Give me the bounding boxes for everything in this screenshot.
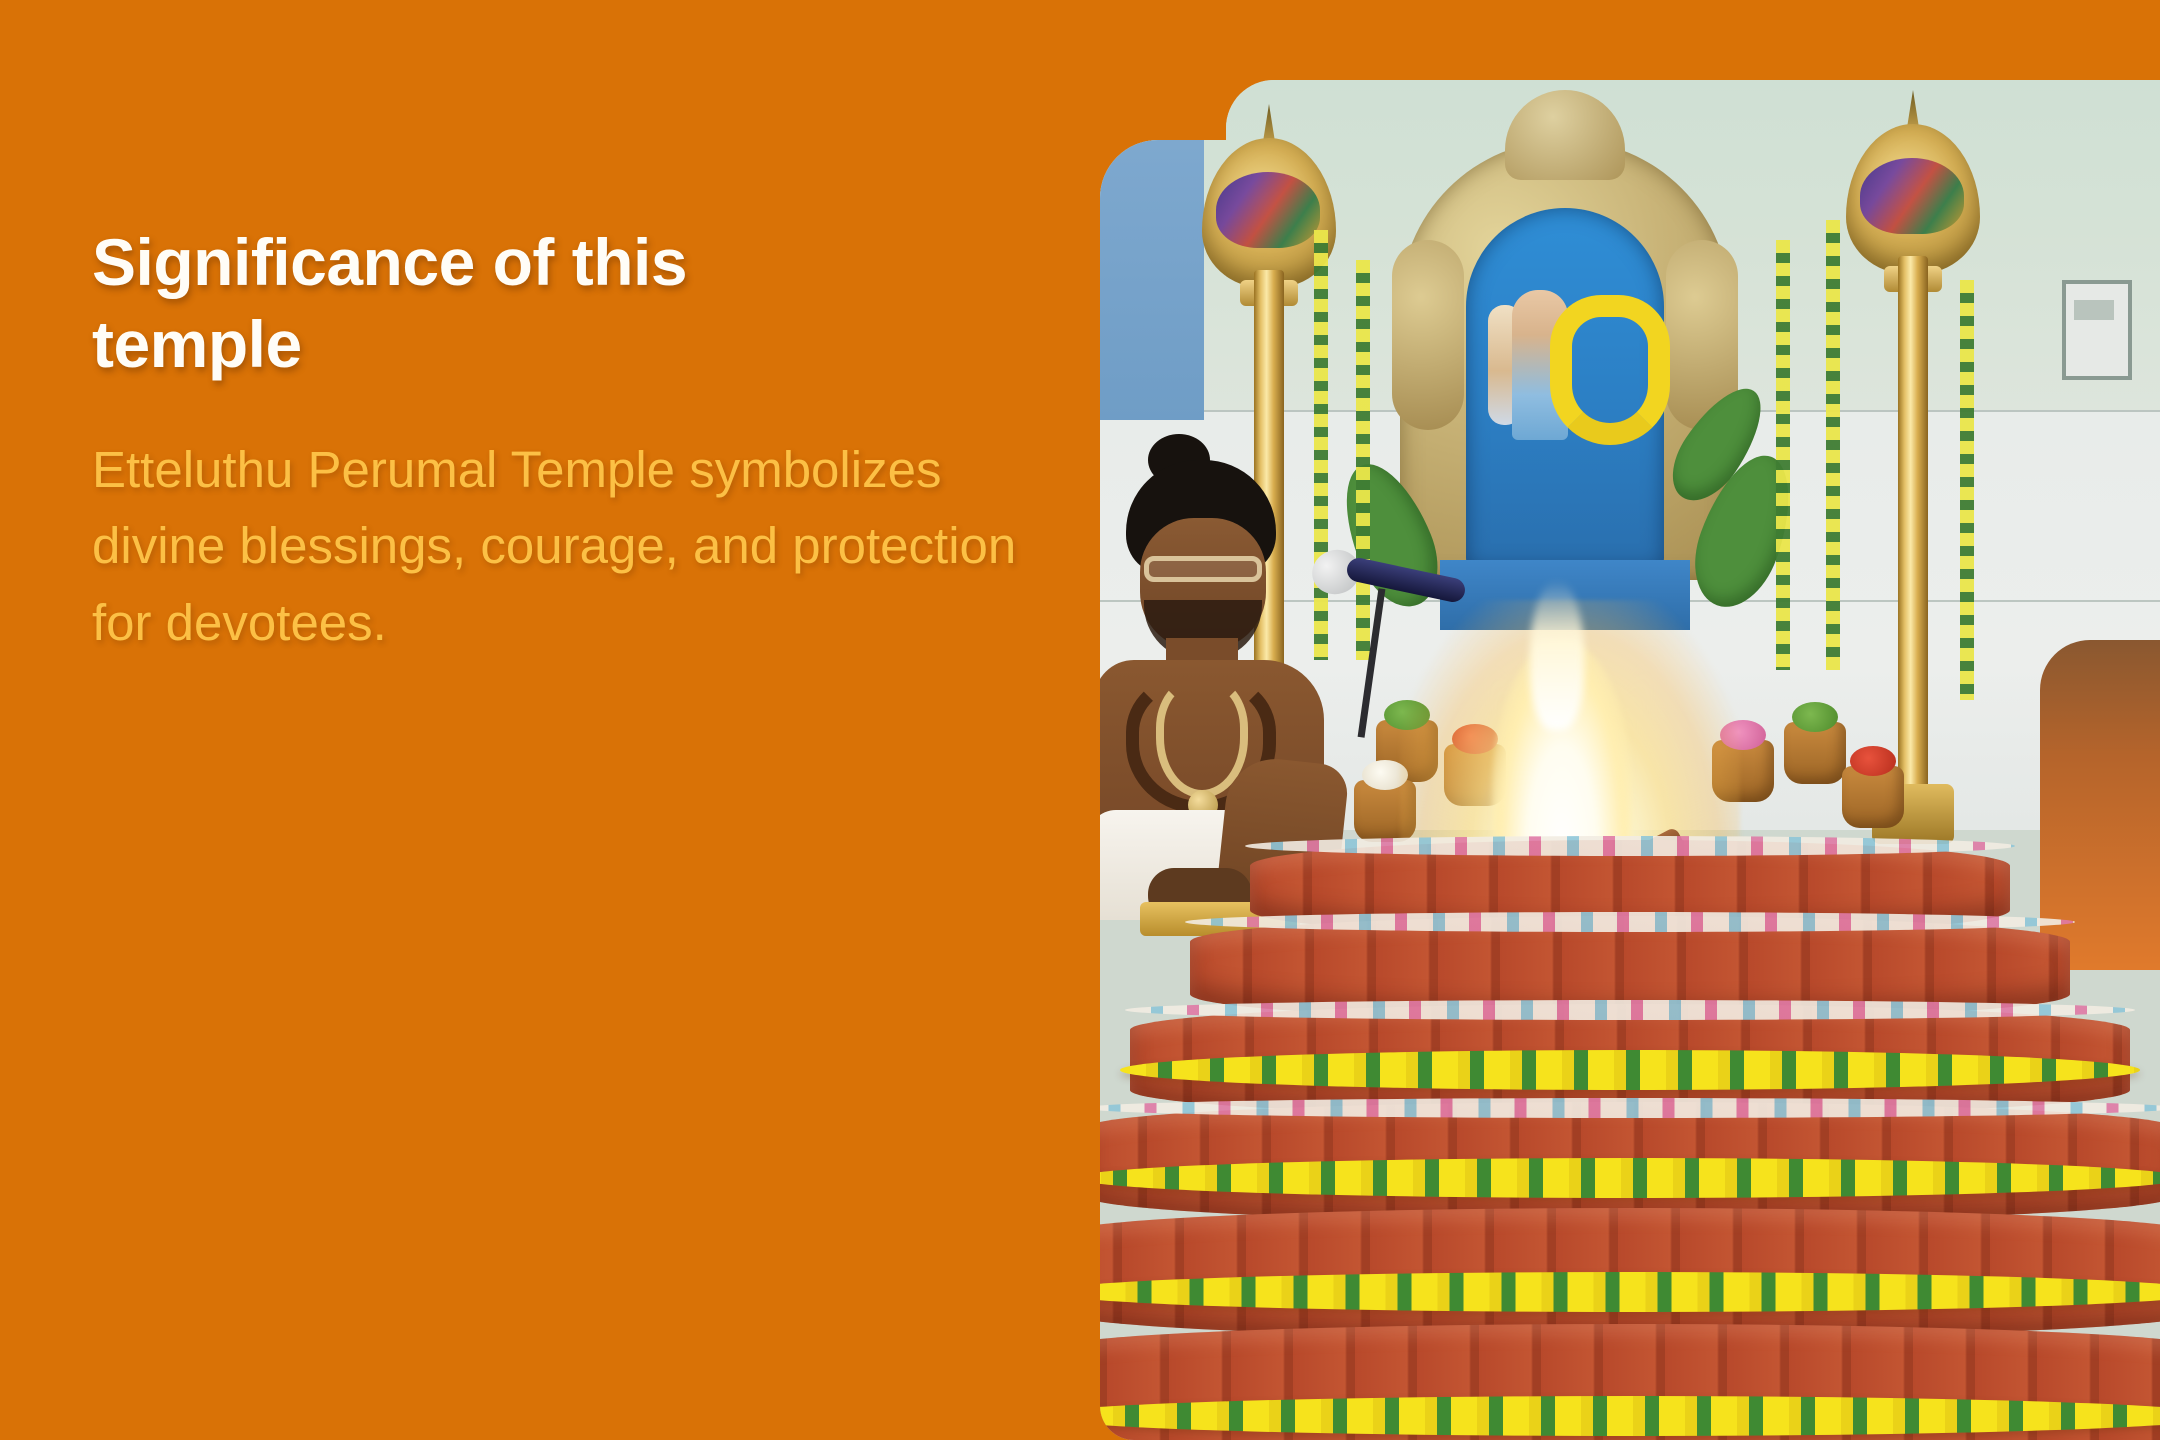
marigold-garland <box>1226 1396 2160 1436</box>
marigold-garland <box>1226 1158 2160 1198</box>
kalasha-pot <box>1842 766 1904 828</box>
brick-decoration <box>1226 1098 2160 1118</box>
photo-panel-upper <box>1226 80 2160 1440</box>
photo-stack <box>1100 80 2160 1440</box>
brick-decoration <box>1245 836 2015 856</box>
homa-kunda <box>1226 840 2160 1440</box>
staff-finial-art <box>1860 158 1964 234</box>
thoranam-string <box>1776 240 1790 670</box>
homa-fire-flame <box>1530 580 1584 730</box>
arch-crown <box>1505 90 1625 180</box>
page-title: Significance of this temple <box>92 222 852 386</box>
kalasha-pot <box>1784 722 1846 784</box>
body-paragraph: Etteluthu Perumal Temple symbolizes divi… <box>92 432 1022 662</box>
shrine-arch <box>1400 90 1730 590</box>
staff-pole <box>1898 256 1928 816</box>
staff-finial-art <box>1226 172 1320 248</box>
temple-photo-upper <box>1226 80 2160 1440</box>
marigold-garland <box>1226 1272 2160 1312</box>
brick-decoration <box>1226 912 2075 932</box>
wall-switchbox <box>2062 280 2132 380</box>
arch-lion-left <box>1392 240 1464 430</box>
priest-glasses <box>1226 556 1262 582</box>
thoranam-string <box>1960 280 1974 700</box>
slide-root: Significance of this temple Etteluthu Pe… <box>0 0 2160 1440</box>
text-column: Significance of this temple Etteluthu Pe… <box>92 222 1052 661</box>
wall-blue-panel <box>1100 140 1204 420</box>
thoranam-string <box>1826 220 1840 670</box>
marigold-garland-icon <box>1550 295 1670 445</box>
